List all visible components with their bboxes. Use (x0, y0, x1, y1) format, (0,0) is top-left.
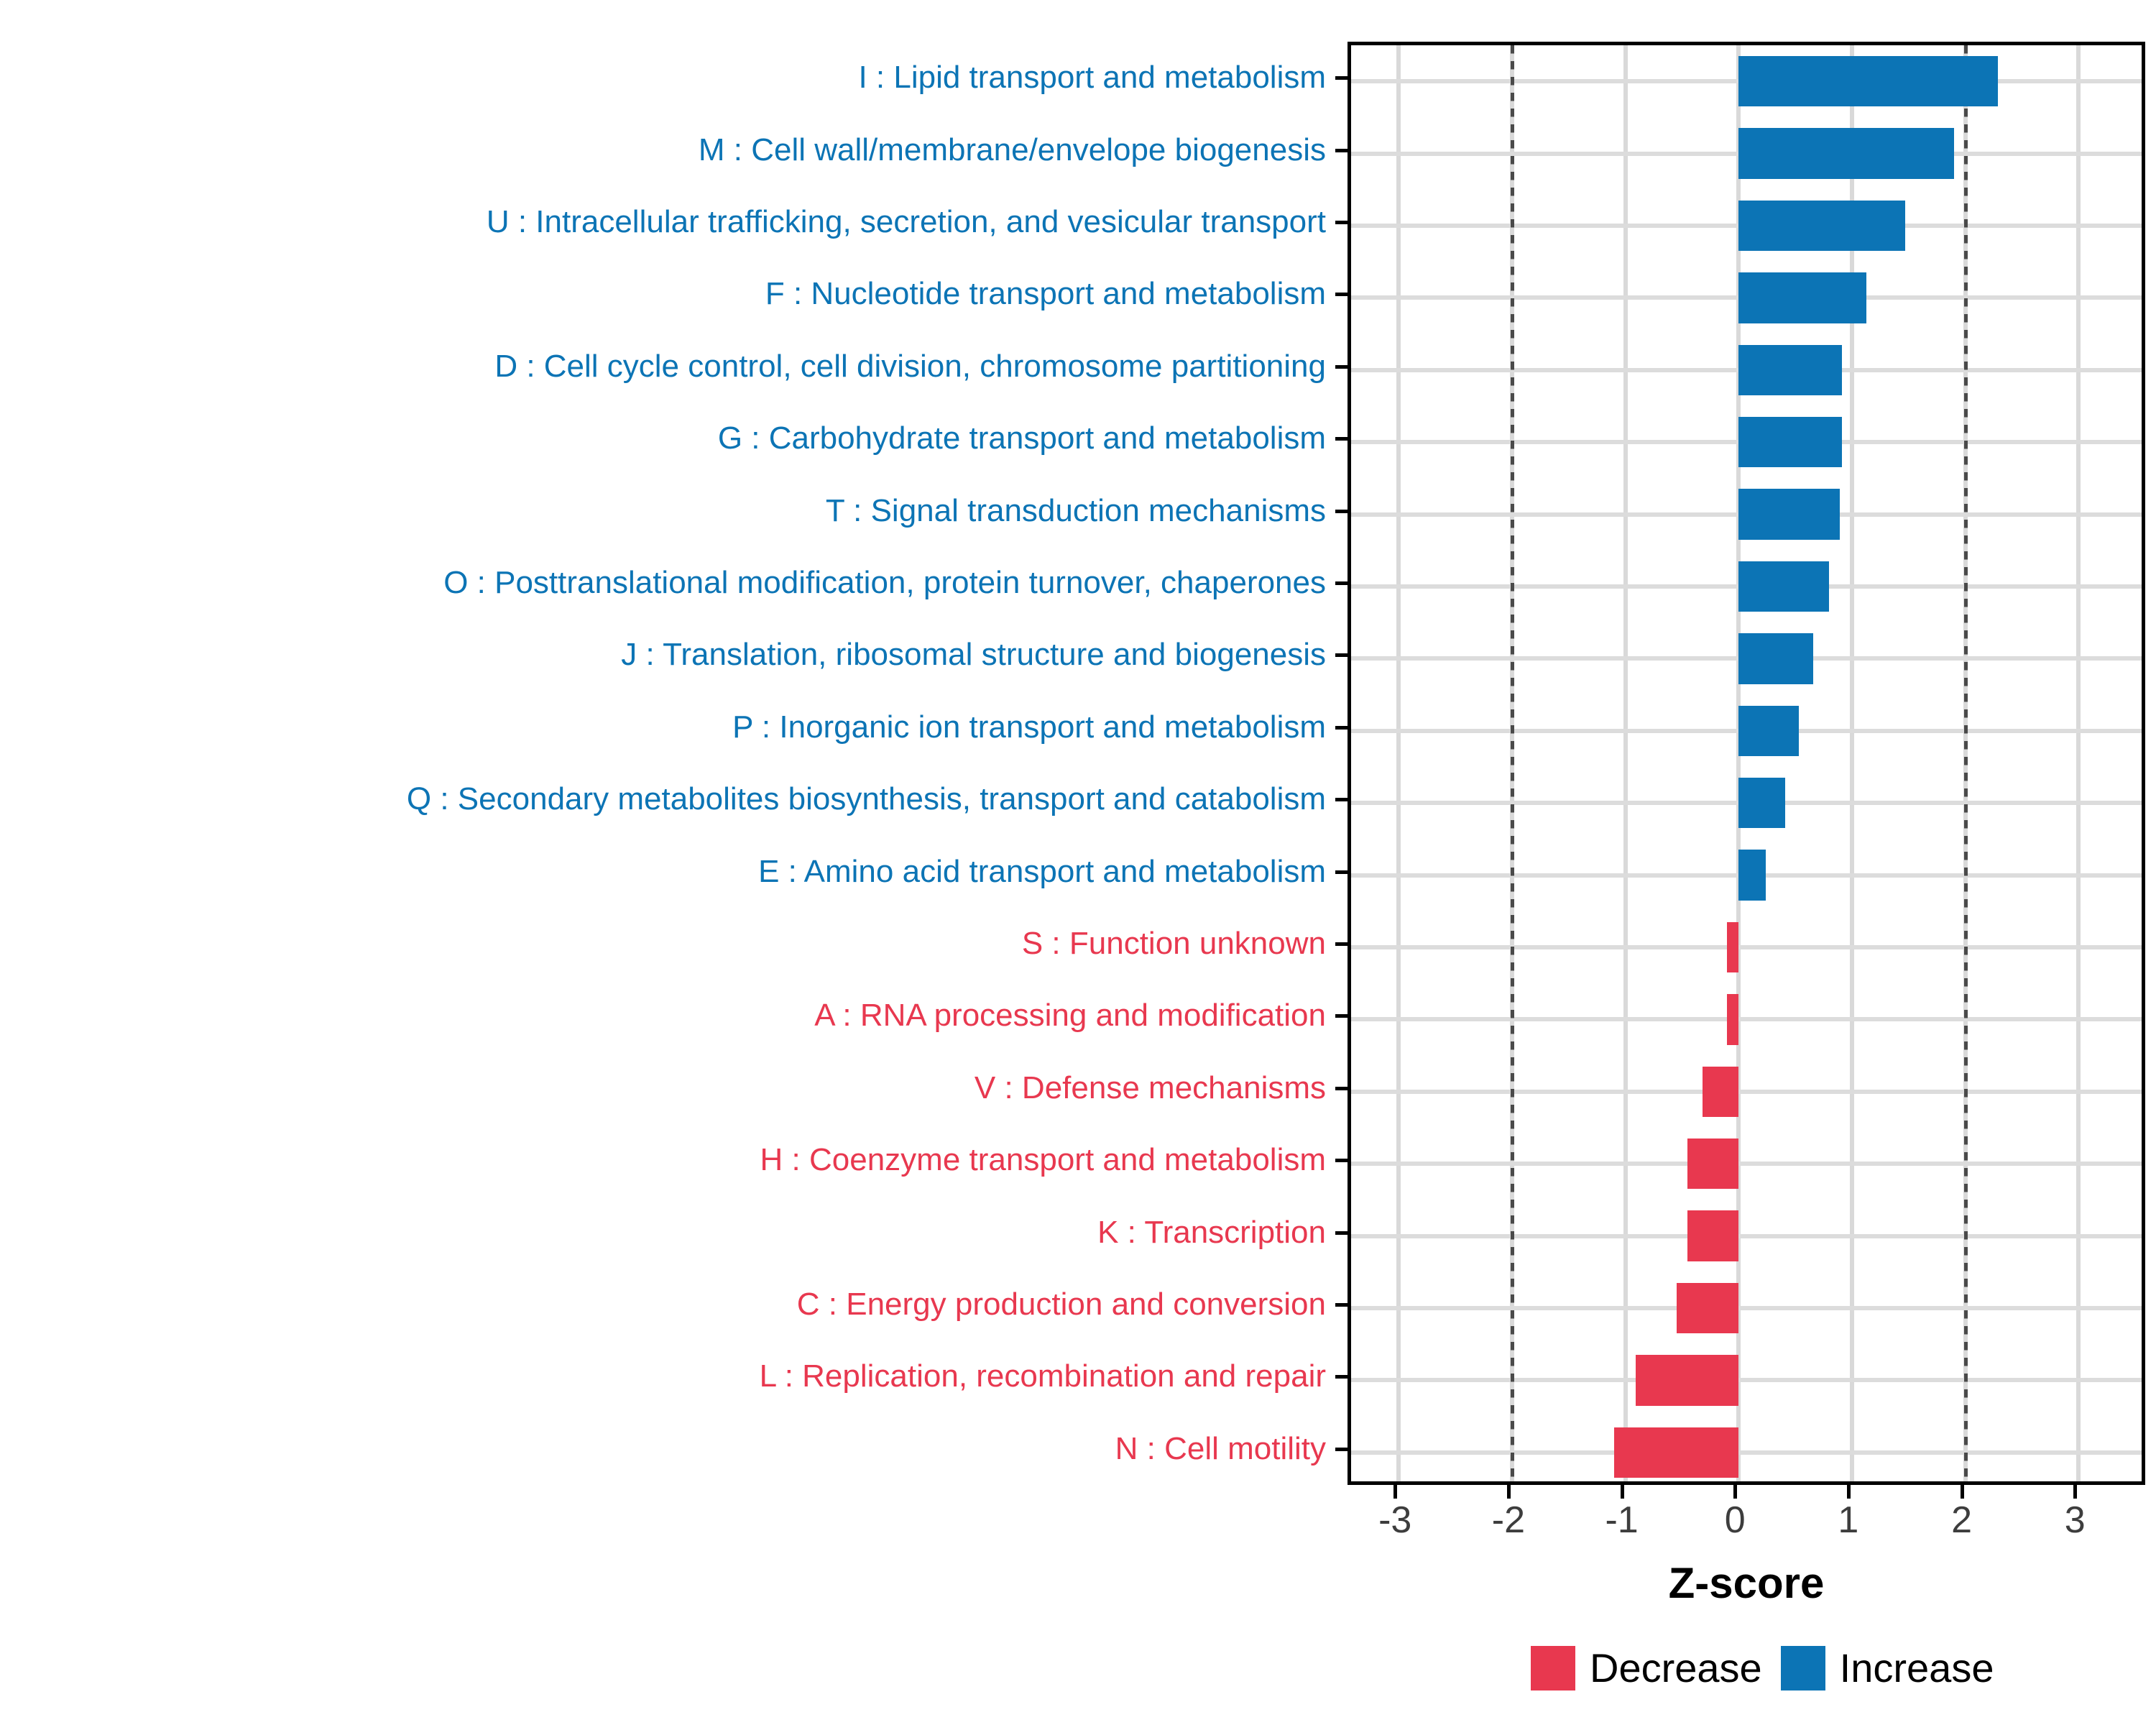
y-axis-tick (1335, 76, 1347, 80)
bar[interactable] (1738, 272, 1866, 323)
vertical-gridline-0 (1736, 45, 1741, 1481)
y-axis-tick (1335, 653, 1347, 657)
y-axis-label: L : Replication, recombination and repai… (760, 1361, 1326, 1392)
bar-row (1351, 778, 2142, 828)
y-axis-label: V : Defense mechanisms (975, 1072, 1326, 1104)
x-axis-title: Z-score (1669, 1558, 1825, 1608)
bar[interactable] (1738, 417, 1841, 467)
bar-row (1351, 561, 2142, 612)
y-axis-label: J : Translation, ribosomal structure and… (621, 639, 1326, 671)
bar-row (1351, 1355, 2142, 1405)
bar-row (1351, 1283, 2142, 1333)
bar[interactable] (1687, 1138, 1738, 1189)
y-axis-label: K : Transcription (1097, 1217, 1326, 1248)
legend-swatch-icon (1531, 1646, 1575, 1690)
bar-row (1351, 922, 2142, 972)
y-axis-label: G : Carbohydrate transport and metabolis… (718, 423, 1326, 454)
y-axis-tick (1335, 1448, 1347, 1451)
y-axis-label: N : Cell motility (1115, 1433, 1326, 1465)
vertical-gridline--1 (1623, 45, 1628, 1481)
bar-row (1351, 56, 2142, 106)
cog-zscore-chart: I : Lipid transport and metabolismM : Ce… (0, 0, 2156, 1725)
y-axis-tick (1335, 293, 1347, 296)
y-axis-tick (1335, 1231, 1347, 1235)
plot-panel (1347, 42, 2145, 1485)
bar-row (1351, 1427, 2142, 1478)
bar-row (1351, 201, 2142, 251)
y-axis-tick (1335, 1159, 1347, 1162)
x-axis-tick-label: 1 (1838, 1501, 1858, 1539)
reference-line-2 (1964, 45, 1968, 1481)
bar[interactable] (1677, 1283, 1739, 1333)
legend-item[interactable]: Increase (1781, 1646, 1994, 1690)
reference-line--2 (1511, 45, 1514, 1481)
y-axis-label: I : Lipid transport and metabolism (858, 62, 1326, 93)
bar[interactable] (1727, 994, 1738, 1044)
bar[interactable] (1636, 1355, 1738, 1405)
x-axis-tick (2073, 1485, 2077, 1499)
bar[interactable] (1687, 1210, 1738, 1261)
y-axis-tick (1335, 1303, 1347, 1307)
y-axis-tick (1335, 437, 1347, 441)
x-axis-tick (1847, 1485, 1851, 1499)
bar-row (1351, 1210, 2142, 1261)
x-axis-tick-label: -1 (1605, 1501, 1638, 1539)
y-axis-tick (1335, 365, 1347, 369)
legend-item[interactable]: Decrease (1531, 1646, 1762, 1690)
y-axis-label: T : Signal transduction mechanisms (826, 495, 1326, 527)
y-axis-tick (1335, 1014, 1347, 1018)
x-axis-tick (1393, 1485, 1397, 1499)
bar-row (1351, 850, 2142, 900)
x-axis-tick (1621, 1485, 1624, 1499)
bar-row (1351, 706, 2142, 756)
legend-label: Decrease (1590, 1648, 1762, 1688)
y-axis-label: E : Amino acid transport and metabolism (758, 856, 1326, 888)
bar-row (1351, 1067, 2142, 1117)
y-axis-label: M : Cell wall/membrane/envelope biogenes… (699, 134, 1326, 166)
bar-row (1351, 417, 2142, 467)
bar[interactable] (1738, 489, 1839, 539)
bar-row (1351, 272, 2142, 323)
x-axis-tick-label: -2 (1492, 1501, 1525, 1539)
y-axis-tick (1335, 942, 1347, 946)
y-axis-label: H : Coenzyme transport and metabolism (760, 1144, 1326, 1176)
x-axis-tick (1507, 1485, 1511, 1499)
bar[interactable] (1738, 128, 1954, 178)
x-axis-tick-label: 3 (2065, 1501, 2086, 1539)
y-axis-tick (1335, 149, 1347, 152)
y-axis-tick (1335, 798, 1347, 801)
bar-row (1351, 489, 2142, 539)
vertical-gridline-1 (1850, 45, 1854, 1481)
bar-row (1351, 994, 2142, 1044)
bar[interactable] (1738, 561, 1829, 612)
y-axis-label: S : Function unknown (1022, 928, 1326, 960)
y-axis-label: C : Energy production and conversion (797, 1289, 1326, 1320)
bar[interactable] (1738, 850, 1766, 900)
legend-swatch-icon (1781, 1646, 1825, 1690)
y-axis-tick (1335, 581, 1347, 585)
y-axis-label: U : Intracellular trafficking, secretion… (487, 206, 1326, 238)
vertical-gridline--3 (1396, 45, 1401, 1481)
chart-legend: DecreaseIncrease (1531, 1646, 1994, 1690)
y-axis-label: D : Cell cycle control, cell division, c… (494, 351, 1326, 382)
bar[interactable] (1738, 56, 1998, 106)
y-axis-label: Q : Secondary metabolites biosynthesis, … (407, 783, 1326, 815)
y-axis-tick (1335, 1087, 1347, 1090)
y-axis-label: F : Nucleotide transport and metabolism (765, 278, 1326, 310)
y-axis-label: P : Inorganic ion transport and metaboli… (732, 712, 1326, 743)
y-axis-tick (1335, 870, 1347, 874)
y-axis-tick (1335, 1375, 1347, 1379)
y-axis-labels: I : Lipid transport and metabolismM : Ce… (0, 42, 1326, 1485)
bar-row (1351, 633, 2142, 684)
x-axis-tick-label: 0 (1725, 1501, 1746, 1539)
bar[interactable] (1614, 1427, 1738, 1478)
bar-row (1351, 345, 2142, 395)
bar[interactable] (1703, 1067, 1738, 1117)
y-axis-tick (1335, 510, 1347, 513)
bar-row (1351, 1138, 2142, 1189)
y-axis-label: A : RNA processing and modification (814, 1000, 1326, 1031)
bar[interactable] (1738, 706, 1799, 756)
legend-label: Increase (1840, 1648, 1994, 1688)
x-axis-tick-label: -3 (1378, 1501, 1411, 1539)
bar[interactable] (1738, 345, 1841, 395)
x-axis-tick (1961, 1485, 1964, 1499)
y-axis-tick (1335, 726, 1347, 730)
bar[interactable] (1727, 922, 1738, 972)
bar[interactable] (1738, 633, 1813, 684)
y-axis-label: O : Posttranslational modification, prot… (443, 567, 1326, 599)
x-axis-tick (1733, 1485, 1737, 1499)
bar[interactable] (1738, 778, 1785, 828)
vertical-gridline-3 (2076, 45, 2081, 1481)
x-axis-tick-label: 2 (1951, 1501, 1972, 1539)
y-axis-tick (1335, 221, 1347, 224)
bar[interactable] (1738, 201, 1905, 251)
bar-row (1351, 128, 2142, 178)
